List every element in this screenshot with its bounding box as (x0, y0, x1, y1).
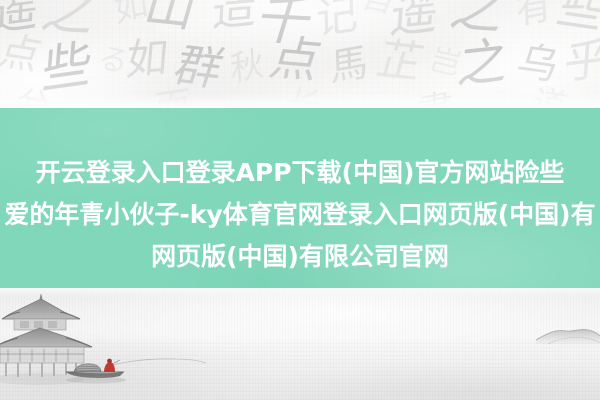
boat-wake (108, 359, 206, 366)
calligraphy-glyph: 道 (527, 86, 571, 108)
calligraphy-glyph: 乎 (563, 37, 600, 87)
calligraphy-glyph-layer: 遥 之 如 山 造 千 记 自 遥 之 有 些 点 些 る 如 群 秋 点 馬 … (0, 0, 600, 108)
calligraphy-glyph: 馬 (330, 43, 369, 88)
calligraphy-glyph: 兮 (11, 86, 53, 108)
headline-line-2: 爱的年青小伙子-ky体育官网登录入口网页版(中国)有 (0, 202, 600, 228)
lake-scene-svg (0, 288, 600, 400)
calligraphy-glyph: 造 (211, 0, 257, 34)
headline-line-1: 开云登录入口登录APP下载(中国)官方网站险些 (0, 160, 600, 186)
calligraphy-glyph: 有 (515, 0, 552, 32)
calligraphy-glyph: 群 (169, 42, 229, 92)
page-root: 遥 之 如 山 造 千 记 自 遥 之 有 些 点 些 る 如 群 秋 点 馬 … (0, 0, 600, 400)
calligraphy-glyph: 如 (124, 36, 170, 81)
calligraphy-glyph: 点 (0, 32, 46, 77)
calligraphy-glyph: 乌 (512, 42, 563, 86)
headline-line-3: 网页版(中国)有限公司官网 (0, 244, 600, 270)
calligraphy-glyph: 芷 (372, 38, 428, 86)
distant-shoreline (536, 329, 600, 344)
calligraphy-glyph: 而 (154, 87, 190, 108)
calligraphy-glyph: 长 (282, 86, 324, 108)
calligraphy-glyph: 山 (139, 0, 203, 34)
calligraphy-banner: 遥 之 如 山 造 千 记 自 遥 之 有 些 点 些 る 如 群 秋 点 馬 … (0, 0, 600, 108)
calligraphy-glyph: 些 (552, 0, 600, 34)
ink-wash-artwork (0, 288, 600, 400)
calligraphy-glyph: 書 (416, 88, 455, 108)
calligraphy-glyph: 之 (455, 35, 511, 91)
calligraphy-glyph: 秋 (229, 46, 265, 87)
headline-banner: 开云登录入口登录APP下载(中国)官方网站险些 爱的年青小伙子-ky体育官网登录… (0, 108, 600, 288)
red-robed-figure (104, 359, 120, 372)
